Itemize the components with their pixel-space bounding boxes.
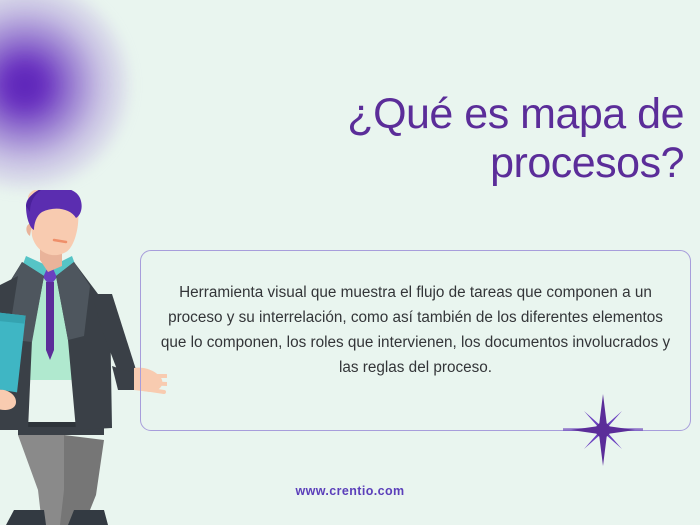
footer-website-url[interactable]: www.crentio.com: [0, 484, 700, 498]
page-title: ¿Qué es mapa de procesos?: [254, 90, 684, 188]
description-text: Herramienta visual que muestra el flujo …: [159, 280, 672, 380]
description-card: Herramienta visual que muestra el flujo …: [140, 250, 691, 431]
slide-canvas: ¿Qué es mapa de procesos? Herramienta vi…: [0, 0, 700, 525]
purple-radial-glow-decoration: [0, 0, 130, 190]
